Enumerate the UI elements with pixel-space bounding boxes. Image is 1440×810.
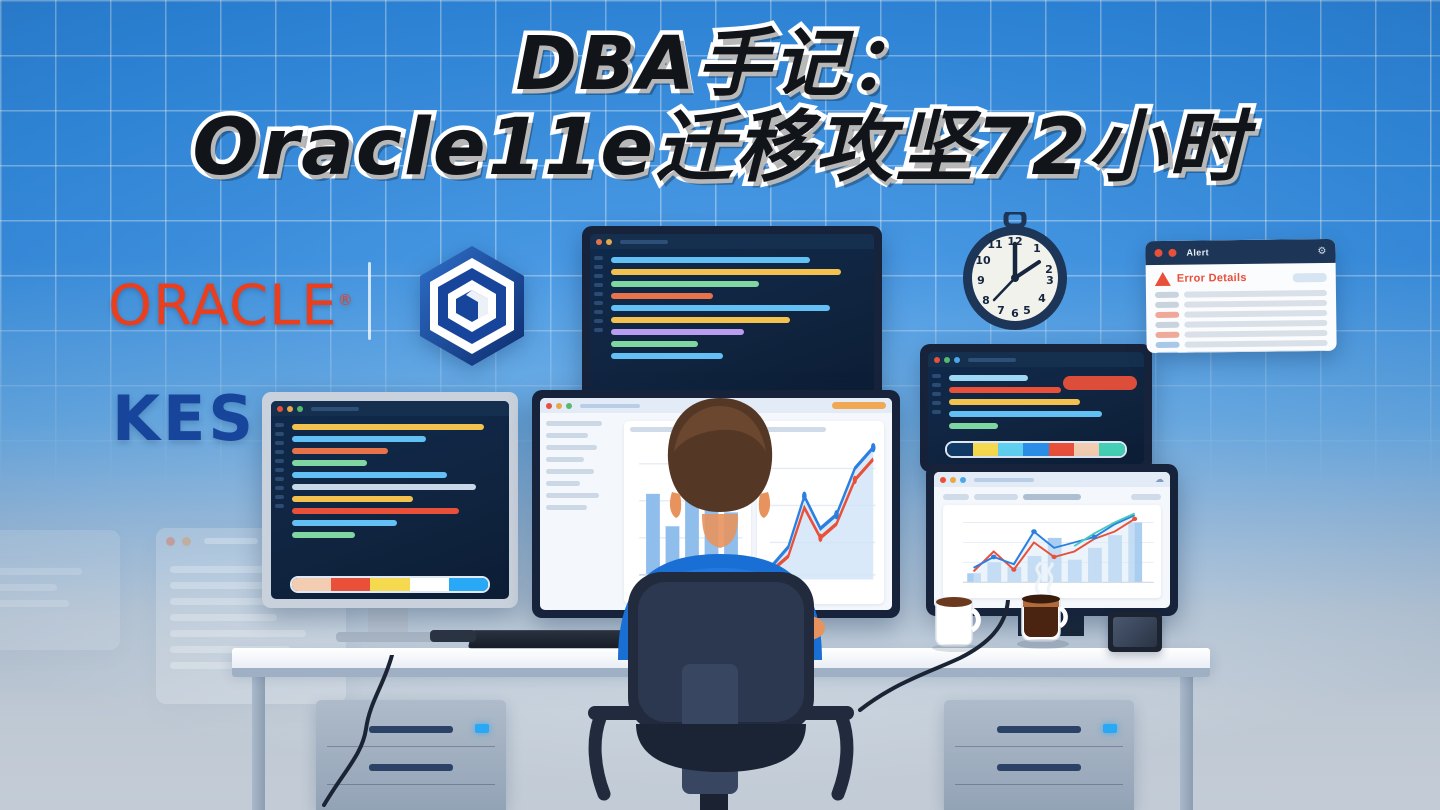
cable-left [300,655,420,810]
alert-row [1155,320,1327,328]
ghost-line [0,568,82,575]
oracle-label: ORACLE [108,274,338,339]
background-ghost-window-2 [0,530,120,650]
svg-text:9: 9 [977,274,985,287]
svg-text:11: 11 [987,238,1002,251]
ghost-line [170,630,306,637]
screen-right-top [928,352,1144,464]
alert-row [1156,340,1328,348]
ghost-line [0,600,69,607]
mouse-pad [430,630,476,642]
editor-titlebar [590,234,874,249]
alert-popup[interactable]: Alert ⚙ Error Details [1145,239,1336,353]
svg-text:4: 4 [1038,292,1046,305]
color-palette-bar[interactable] [290,576,490,593]
line-numbers [928,367,945,464]
logo-divider [368,262,371,340]
svg-text:10: 10 [975,254,991,267]
alert-title: Alert [1186,247,1209,257]
code-editor-left [271,401,509,599]
oracle-wordmark: ORACLE® [108,272,354,335]
coffee-cup-steaming [1010,562,1080,657]
kes-logo: KES [112,388,256,450]
error-highlight-button[interactable] [1063,376,1137,390]
monitor-top-center[interactable] [582,226,882,404]
monitor-left-neck [368,608,408,634]
alert-heading-row: Error Details [1155,270,1327,286]
screen-top-center [590,234,874,396]
editor-titlebar [271,401,509,416]
wall-clock: 1212 345 678 91011 [954,212,1076,334]
alert-body: Error Details [1146,263,1337,353]
alert-row [1155,310,1327,318]
ghost-line [0,584,57,591]
coffee-mug-white [928,596,988,659]
kingbase-hexagon-logo [408,242,536,370]
alert-titlebar: Alert ⚙ [1145,239,1335,265]
alert-row [1155,330,1327,338]
alert-min-dot[interactable] [1168,249,1176,257]
alert-row [1155,290,1327,298]
svg-text:6: 6 [1011,307,1019,320]
screen-left [271,401,509,599]
code-lines [607,249,874,396]
code-editor-right-top [928,352,1144,464]
line-numbers [271,416,288,599]
alert-badge [1293,272,1327,281]
alert-heading: Error Details [1177,272,1247,285]
phone-dock[interactable] [1108,612,1162,652]
svg-text:7: 7 [997,304,1005,317]
monitor-left-base [336,632,442,642]
code-editor-top [590,234,874,396]
code-lines [288,416,509,599]
svg-text:1: 1 [1033,242,1041,255]
ghost-dot-red [166,537,175,546]
svg-text:3: 3 [1046,274,1054,287]
ghost2-titlebar [0,530,120,556]
ghost-title-placeholder [204,538,258,544]
ghost-line [170,614,277,621]
warning-triangle-icon [1155,272,1171,286]
svg-text:8: 8 [982,294,990,307]
svg-text:5: 5 [1023,304,1031,317]
search-pill[interactable] [832,402,886,409]
editor-titlebar [928,352,1144,367]
line-numbers [590,249,607,396]
office-chair[interactable] [578,572,864,810]
monitor-right-top[interactable] [920,344,1152,472]
alert-close-dot[interactable] [1154,249,1162,257]
monitor-left[interactable] [262,392,518,608]
oracle-logo: ORACLE® [108,272,354,335]
page-title: DBA手记： Oracle11e迁移攻坚72小时 [0,22,1440,190]
registered-mark-icon: ® [338,291,354,309]
thumbnail-canvas: DBA手记： Oracle11e迁移攻坚72小时 ORACLE® KES [0,0,1440,810]
desk-leg-right [1180,676,1193,810]
alert-rows [1155,290,1328,353]
gear-icon[interactable]: ⚙ [1317,245,1326,256]
ghost-dot-amber [182,537,191,546]
title-line-1: DBA手记： [0,22,1440,106]
cloud-icon: ☁ [1155,474,1164,485]
alert-row [1155,300,1327,308]
color-palette-bar[interactable] [945,441,1126,458]
ghost2-body [0,556,120,619]
title-line-2: Oracle11e迁移攻坚72小时 [0,106,1440,190]
phone-screen [1113,617,1157,647]
dashboard-titlebar: ☁ [934,472,1170,487]
dashboard-toolbar [943,494,1161,500]
desk-leg-left [252,676,265,810]
